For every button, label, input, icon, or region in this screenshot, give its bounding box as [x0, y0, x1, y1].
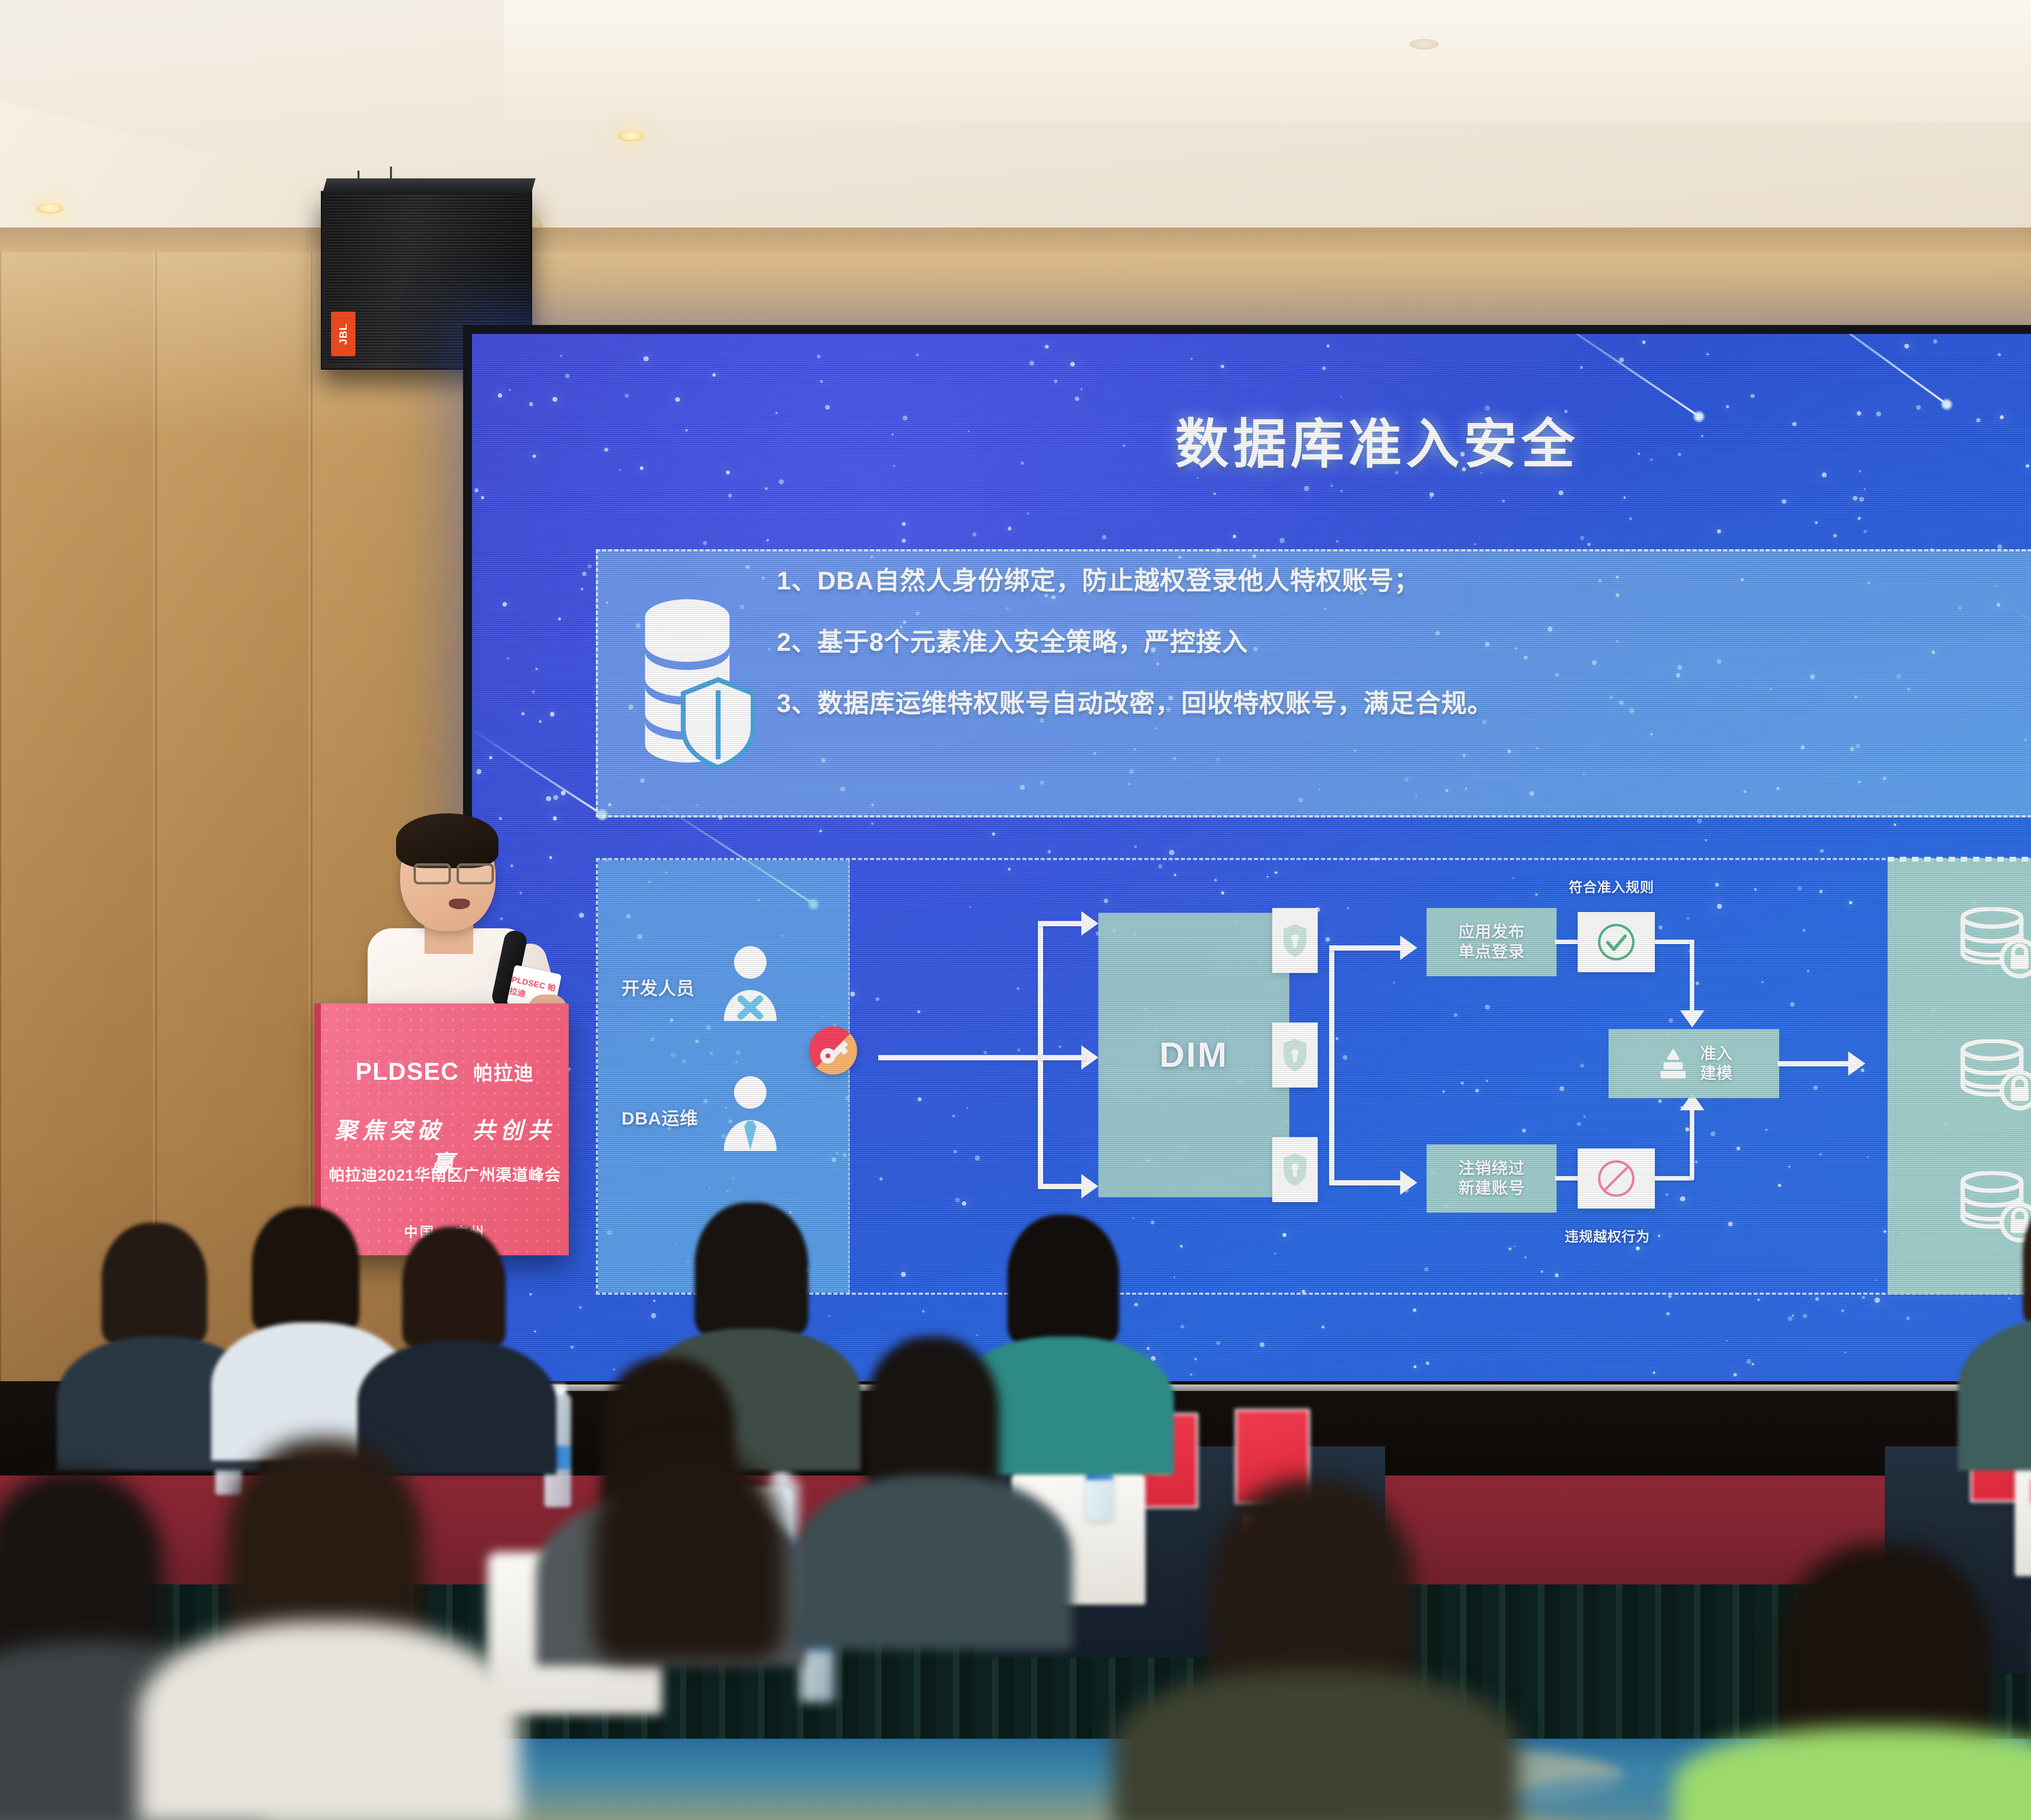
star-dot — [625, 394, 629, 398]
arrow-head-icon — [1400, 936, 1417, 960]
ceiling — [0, 0, 2031, 252]
star-dot — [1580, 366, 1583, 369]
star-dot — [1706, 353, 1709, 355]
star-dot — [1134, 845, 1137, 848]
star-dot — [871, 822, 874, 825]
star-dot — [902, 539, 906, 543]
star-dot — [1705, 839, 1706, 841]
database-lock-icon — [1959, 1171, 2031, 1244]
star-dot — [766, 539, 769, 542]
star-dot — [1733, 1373, 1737, 1377]
star-dot — [916, 354, 918, 356]
access-model-label: 准入 建模 — [1700, 1044, 1732, 1083]
star-dot — [1757, 1298, 1760, 1301]
star-dot — [1559, 490, 1563, 495]
led-screen-frame: 数据库准入安全 1、DBA自然人身份绑定，防止越权登录他人特权账号； — [463, 325, 2031, 1393]
flow-connector — [1555, 1176, 1579, 1181]
star-dot — [1815, 521, 1818, 524]
star-dot — [1894, 823, 1896, 826]
flow-connector — [1038, 1184, 1083, 1189]
star-dot — [819, 830, 822, 832]
star-dot — [511, 864, 513, 867]
star-dot — [1624, 496, 1626, 499]
user-tie-icon — [720, 1075, 781, 1155]
audience-shoulders — [796, 1475, 1072, 1649]
star-dot — [509, 389, 511, 391]
flow-connector — [1041, 1055, 1085, 1060]
branch-box-sso: 应用发布 单点登录 — [1427, 908, 1557, 976]
star-dot — [532, 690, 535, 693]
star-dot — [1080, 388, 1083, 390]
arrow-head-icon — [1680, 1010, 1704, 1027]
star-dot — [1216, 1341, 1220, 1345]
star-dot — [1904, 344, 1909, 349]
star-dot — [1792, 1315, 1794, 1317]
role-label-developer: 开发人员 — [621, 974, 695, 1000]
podium-event-name: 帕拉迪2021华南区广州渠道峰会 — [321, 1163, 569, 1185]
star-dot — [1580, 536, 1585, 540]
star-dot — [1027, 513, 1029, 514]
star-dot — [643, 356, 648, 361]
flow-label-compliant: 符合准入规则 — [1569, 876, 1654, 896]
star-dot — [1048, 850, 1051, 854]
flow-connector — [1038, 921, 1083, 926]
star-dot — [972, 532, 977, 536]
arrow-head-icon — [1081, 911, 1098, 936]
star-dot — [579, 1306, 582, 1309]
star-dot — [1587, 543, 1591, 546]
star-dot — [765, 487, 768, 490]
jbl-logo-badge: JBL — [331, 312, 355, 356]
star-dot — [1147, 1347, 1150, 1350]
star-dot — [476, 769, 481, 774]
brand-cn-text: 帕拉迪 — [473, 1063, 534, 1084]
star-dot — [579, 913, 584, 918]
star-dot — [539, 720, 541, 722]
star-dot — [1474, 543, 1476, 546]
flow-connector — [1329, 945, 1334, 1185]
star-dot — [1194, 1358, 1197, 1361]
star-dot — [1788, 1316, 1793, 1321]
slide-bullet-panel: 1、DBA自然人身份绑定，防止越权登录他人特权账号； 2、基于8个元素准入安全策… — [596, 549, 2031, 817]
star-dot — [922, 1310, 925, 1313]
flow-connector — [1329, 945, 1402, 951]
star-dot — [550, 712, 555, 717]
star-dot — [1054, 379, 1058, 383]
brand-latin-text: PLDSEC — [355, 1058, 459, 1085]
table-namecard-text — [1269, 1448, 1275, 1465]
star-dot — [1859, 497, 1864, 502]
star-dot — [1752, 1363, 1754, 1365]
star-dot — [474, 488, 479, 492]
star-dot — [520, 892, 522, 894]
speaker-top — [322, 178, 535, 195]
star-dot — [1280, 538, 1285, 543]
audience-head-foreground — [593, 1446, 784, 1662]
star-dot — [1906, 1316, 1910, 1320]
star-dot — [558, 617, 561, 620]
bottle-cap — [773, 1470, 790, 1480]
branch-box-bypass: 注销绕过 新建账号 — [1427, 1144, 1557, 1213]
star-dot — [1853, 496, 1857, 500]
star-dot — [1862, 1296, 1865, 1299]
flow-label-violation: 违规越权行为 — [1565, 1226, 1650, 1246]
branch-label-line1: 注销绕过 — [1458, 1159, 1525, 1179]
star-dot — [1304, 486, 1309, 491]
speaker-hair — [396, 813, 498, 868]
star-dot — [546, 796, 551, 801]
star-dot — [581, 588, 583, 590]
star-dot — [1430, 497, 1432, 499]
speaker-glasses-right — [457, 863, 494, 884]
flow-connector — [1690, 940, 1694, 1013]
bullet-item: 1、DBA自然人身份绑定，防止越权登录他人特权账号； — [777, 568, 2031, 594]
star-dot — [1429, 492, 1434, 497]
star-dot — [1642, 340, 1646, 344]
star-dot — [553, 795, 558, 800]
bullet-item: 3、数据库运维特权账号自动改密，回收特权账号，满足合规。 — [777, 691, 2031, 717]
star-dot — [1075, 396, 1079, 401]
flow-connector — [1690, 1109, 1694, 1179]
database-shield-icon — [639, 596, 760, 775]
star-dot — [992, 832, 995, 836]
user-cross-icon — [720, 945, 781, 1025]
star-dot — [1726, 1340, 1728, 1342]
star-dot — [1045, 345, 1048, 349]
star-dot — [1330, 484, 1333, 487]
star-dot — [712, 373, 716, 377]
model-label-line2: 建模 — [1700, 1064, 1732, 1083]
star-dot — [1413, 1309, 1416, 1312]
star-dot — [820, 380, 823, 383]
star-dot — [1815, 1297, 1819, 1301]
star-dot — [817, 355, 821, 358]
star-dot — [582, 572, 587, 576]
star-dot — [1321, 1326, 1325, 1329]
star-dot — [1029, 361, 1034, 366]
downlight — [37, 203, 63, 214]
key-badge-icon — [809, 1027, 857, 1075]
podium-lectern: PLDSEC 帕拉迪 聚焦突破 共创共赢 帕拉迪2021华南区广州渠道峰会 中国… — [321, 1003, 569, 1255]
star-dot — [1414, 1365, 1416, 1368]
slide-title: 数据库准入安全 — [472, 401, 2031, 479]
star-dot — [1933, 339, 1938, 344]
bullet-list: 1、DBA自然人身份绑定，防止越权登录他人特权账号； 2、基于8个元素准入安全策… — [777, 568, 2031, 752]
star-dot — [1864, 488, 1866, 490]
star-dot — [613, 1368, 615, 1371]
star-dot — [1820, 849, 1823, 853]
audience-head — [252, 1207, 359, 1332]
star-dot — [1653, 1371, 1655, 1374]
star-dot — [481, 496, 484, 499]
star-dot — [2008, 1298, 2010, 1300]
speaker-glasses-left — [414, 863, 451, 884]
flow-connector — [1778, 1061, 1851, 1066]
panel-tick-border — [1888, 857, 2031, 862]
star-dot — [1327, 344, 1330, 348]
star-dot — [553, 816, 557, 820]
role-label-dba: DBA运维 — [621, 1104, 698, 1130]
gate-allow-check — [1578, 912, 1655, 972]
downlight — [617, 131, 644, 141]
flow-connector — [1329, 1180, 1402, 1185]
podium-brand-logo: PLDSEC 帕拉迪 — [321, 1057, 569, 1085]
database-lock-icon — [1959, 1039, 2031, 1112]
star-dot — [1322, 366, 1326, 370]
audience-head — [695, 1202, 808, 1337]
bullet-item: 2、基于8个元素准入安全策略，严控接入 — [777, 630, 2031, 655]
star-dot — [1998, 353, 2001, 356]
gate-deny-prohibited — [1578, 1148, 1655, 1209]
ceiling-recess — [504, 0, 2031, 122]
star-dot — [1746, 1359, 1751, 1363]
audience-head — [402, 1227, 506, 1349]
star-dot — [498, 393, 502, 398]
branch-label-line2: 新建账号 — [1458, 1179, 1525, 1198]
star-dot — [489, 756, 492, 759]
database-lock-icon — [1959, 907, 2031, 980]
audience-head — [102, 1223, 207, 1345]
dim-label: DIM — [1159, 1035, 1228, 1075]
dim-core-box: DIM — [1098, 913, 1289, 1197]
star-dot — [1336, 540, 1338, 542]
star-dot — [534, 1330, 536, 1332]
star-dot — [1180, 1325, 1184, 1329]
star-dot — [1629, 518, 1632, 520]
star-dot — [499, 817, 502, 820]
star-dot — [549, 856, 552, 859]
star-dot — [1233, 535, 1236, 538]
star-dot — [1845, 1352, 1846, 1353]
star-dot — [587, 564, 592, 569]
star-dot — [1008, 526, 1012, 531]
star-dot — [1717, 529, 1721, 533]
access-model-box: 准入 建模 — [1609, 1029, 1779, 1098]
star-dot — [1340, 490, 1343, 493]
star-dot — [1169, 850, 1174, 855]
star-dot — [1426, 1361, 1430, 1365]
smoke-detector-icon — [1410, 39, 1439, 50]
star-dot — [1833, 534, 1837, 537]
star-dot — [651, 1313, 656, 1318]
shield-lock-card — [1272, 908, 1318, 973]
shield-lock-card — [1272, 1137, 1318, 1202]
slide-diagram-panel: 开发人员 DBA运维 — [596, 858, 2031, 1295]
star-dot — [502, 602, 507, 607]
branch-label-line2: 单点登录 — [1458, 942, 1525, 962]
star-dot — [1191, 358, 1193, 360]
audience-shoulders — [357, 1341, 556, 1475]
star-dot — [976, 1334, 978, 1336]
star-dot — [1502, 500, 1505, 503]
star-dot — [1668, 1295, 1672, 1298]
star-dot — [1997, 544, 2002, 549]
flow-connector — [1555, 940, 1579, 944]
star-dot — [1750, 394, 1755, 399]
star-dot — [529, 1293, 532, 1296]
protected-databases-column — [1888, 858, 2031, 1294]
star-dot — [828, 1315, 830, 1317]
model-label-line1: 准入 — [1700, 1044, 1732, 1064]
star-dot — [535, 668, 538, 670]
flow-connector — [1655, 1176, 1694, 1181]
star-dot — [1875, 1298, 1880, 1303]
branch-label-line1: 应用发布 — [1458, 922, 1525, 942]
star-dot — [570, 1345, 574, 1349]
star-dot — [1803, 1314, 1807, 1318]
speaker-mouth — [449, 899, 470, 909]
star-dot — [1221, 365, 1224, 368]
star-dot — [703, 541, 707, 545]
audience-head — [1007, 1215, 1119, 1345]
layers-stack-icon — [1655, 1046, 1691, 1081]
star-dot — [560, 355, 563, 357]
audience-head — [865, 1337, 999, 1495]
star-dot — [1666, 1312, 1670, 1316]
audience-shoulders-foreground — [1113, 1670, 1519, 1820]
star-dot — [1102, 535, 1106, 539]
star-dot — [1858, 517, 1861, 520]
star-dot — [902, 522, 906, 526]
star-dot — [653, 1300, 656, 1302]
conference-hall-photo: JBL JBL 数据库准入安全 — [0, 0, 2031, 1820]
star-dot — [779, 479, 784, 485]
star-dot — [507, 657, 510, 660]
star-dot — [521, 712, 524, 715]
arrow-head-icon — [1081, 1174, 1098, 1198]
star-dot — [1863, 530, 1867, 533]
star-dot — [1841, 1309, 1844, 1312]
star-dot — [1134, 1303, 1138, 1306]
star-dot — [565, 374, 569, 378]
arrow-head-icon — [1848, 1051, 1865, 1076]
star-dot — [1697, 819, 1702, 823]
star-dot — [1340, 396, 1342, 399]
star-dot — [1782, 499, 1786, 504]
jbl-logo-text: JBL — [337, 323, 350, 344]
flow-connector — [878, 1055, 1041, 1060]
star-dot — [1214, 493, 1216, 495]
star-dot — [1190, 1374, 1192, 1376]
star-dot — [1070, 362, 1075, 366]
star-dot — [500, 917, 503, 920]
shield-lock-card — [1272, 1023, 1318, 1088]
star-dot — [1260, 1342, 1265, 1347]
arrow-head-icon — [1400, 1170, 1417, 1195]
star-dot — [728, 494, 732, 498]
flow-connector — [1655, 940, 1694, 944]
audience-shoulders-foreground — [138, 1621, 520, 1820]
